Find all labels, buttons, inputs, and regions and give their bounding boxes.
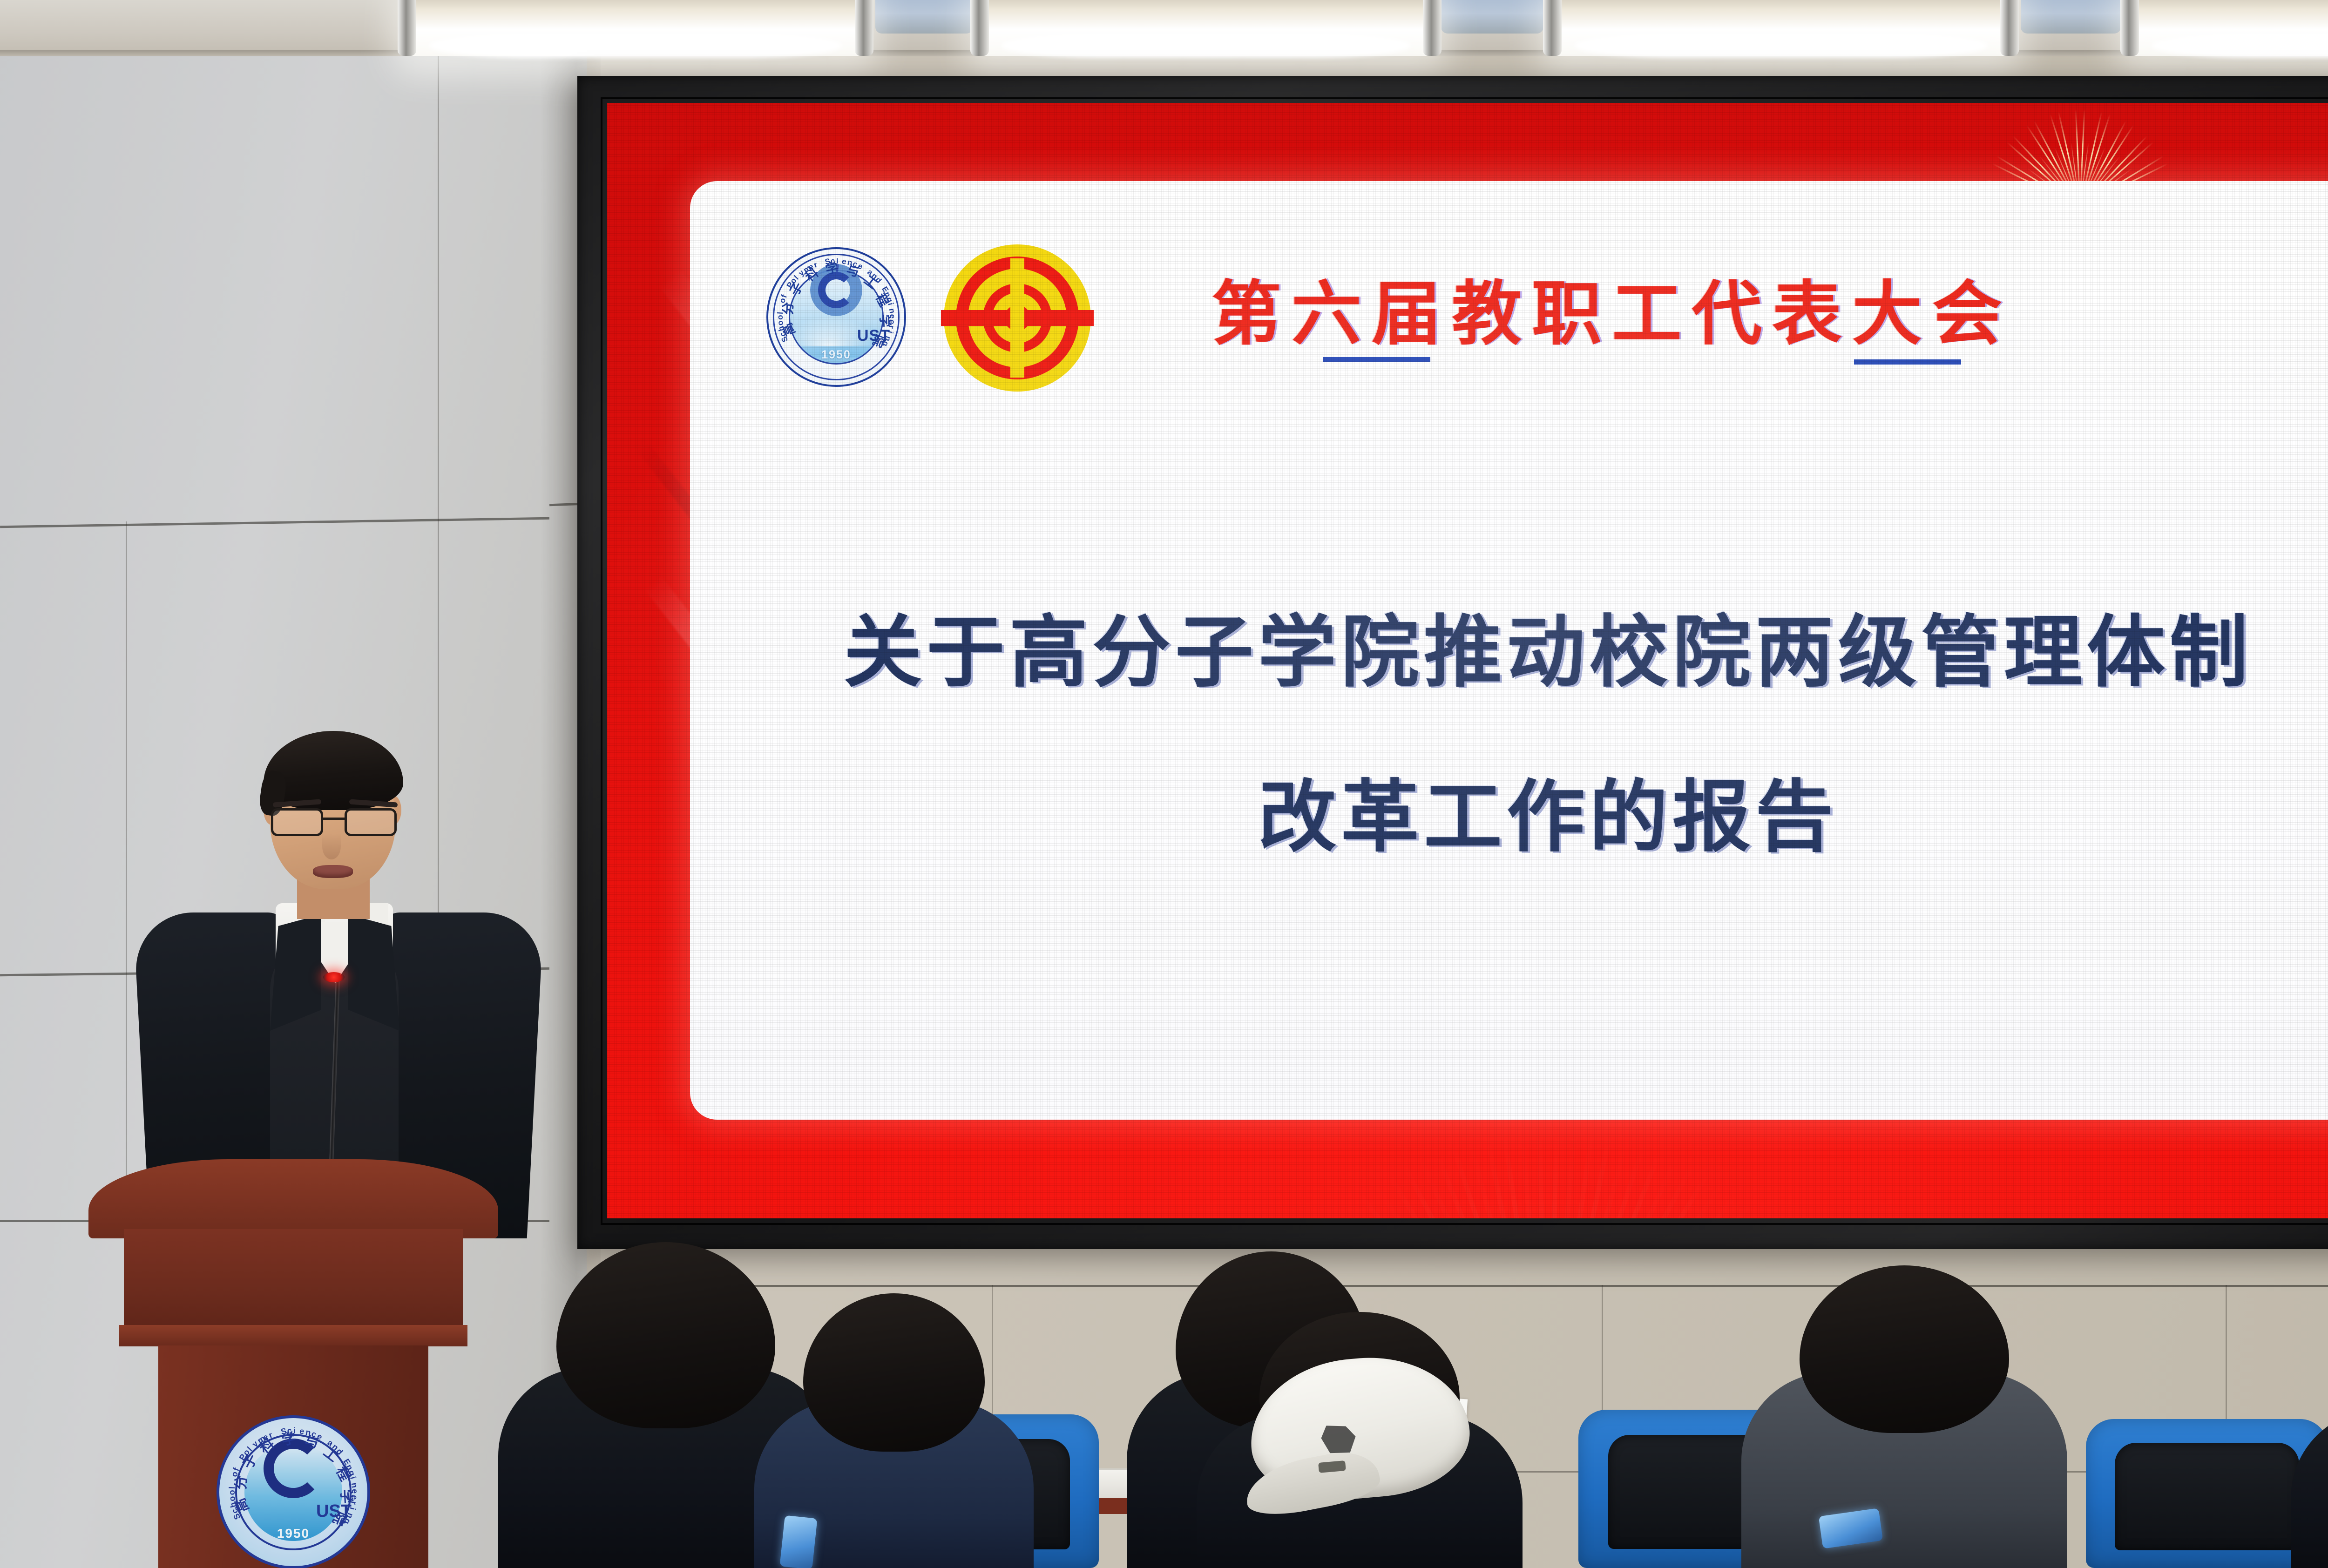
mouth: [313, 865, 353, 878]
seal-founding-year: 1950: [768, 348, 904, 362]
audience-member-head: [556, 1242, 775, 1428]
light-chrome-edge: [2000, 0, 2019, 56]
ceiling-panel: [875, 0, 973, 34]
ceiling-light-fixture: [2123, 0, 2328, 56]
eyeglasses-icon: [268, 808, 399, 837]
light-chrome-edge: [970, 0, 989, 56]
light-chrome-edge: [1423, 0, 1441, 56]
emblem-gap: [976, 310, 998, 326]
light-glow: [429, 34, 843, 58]
microphone-led-indicator: [323, 972, 345, 982]
audience-member-head: [1800, 1265, 2009, 1433]
audience-member: [2291, 1307, 2328, 1568]
emblem-gap: [1037, 310, 1058, 326]
audience-member-torso: [2291, 1410, 2328, 1568]
nose: [322, 833, 341, 859]
ceiling-light-fixture: [973, 0, 1439, 56]
slide-title-line-1: 关于高分子学院推动校院两级管理体制: [690, 614, 2328, 692]
slide-header: 高分子科学与工程学院 School of Polymer Science and…: [690, 236, 2328, 390]
led-panel-surface: 高分子科学与工程学院 School of Polymer Science and…: [607, 103, 2328, 1218]
light-glow: [1001, 34, 1411, 58]
chair-cushion: [2115, 1443, 2299, 1550]
light-chrome-edge: [398, 0, 416, 56]
emblem-vertical-stroke: [1010, 258, 1024, 378]
audience-area: [0, 1214, 2328, 1568]
glasses-lens-left: [271, 808, 323, 836]
wall-seam: [126, 521, 127, 1229]
glasses-bridge: [323, 818, 345, 820]
seal-chinese-name: 高分子科学与工程学院: [768, 249, 904, 385]
light-chrome-edge: [2120, 0, 2139, 56]
cap-logo-icon: [1320, 1423, 1357, 1455]
audience-member-head: [803, 1293, 985, 1452]
audience-member-with-cap: [1197, 1307, 1523, 1568]
light-chrome-edge: [855, 0, 873, 56]
glasses-lens-right: [345, 808, 397, 836]
audience-member: [1741, 1261, 2067, 1568]
ceiling-panel: [1441, 0, 1543, 34]
ceiling-panel: [2021, 0, 2121, 34]
ceiling-light-fixture: [1546, 0, 2016, 56]
slide-title-line-2: 改革工作的报告: [690, 779, 2328, 857]
school-seal-logo: 高分子科学与工程学院 School of Polymer Science and…: [766, 247, 906, 387]
light-glow: [1574, 34, 1988, 58]
smartphone-screen[interactable]: [779, 1515, 817, 1568]
light-glow: [2152, 34, 2328, 58]
slide-body: 关于高分子学院推动校院两级管理体制 改革工作的报告: [690, 614, 2328, 857]
seal-abbr: UST: [857, 327, 890, 345]
trade-union-emblem-icon: [944, 244, 1091, 392]
hair: [264, 731, 403, 810]
header-underline-accent: [1854, 359, 1961, 365]
speaker-person: [130, 717, 549, 1229]
led-display-wall[interactable]: 高分子科学与工程学院 School of Polymer Science and…: [577, 76, 2328, 1249]
conference-hall-scene: 高分子科学与工程学院 School of Polymer Science and…: [0, 0, 2328, 1568]
light-chrome-edge: [1543, 0, 1562, 56]
slide-header-title: 第六届教职工代表大会: [1211, 257, 2236, 358]
slide-content-card: 高分子科学与工程学院 School of Polymer Science and…: [690, 181, 2328, 1120]
ceiling-light-fixture: [400, 0, 871, 56]
header-underline-accent: [1323, 357, 1430, 362]
